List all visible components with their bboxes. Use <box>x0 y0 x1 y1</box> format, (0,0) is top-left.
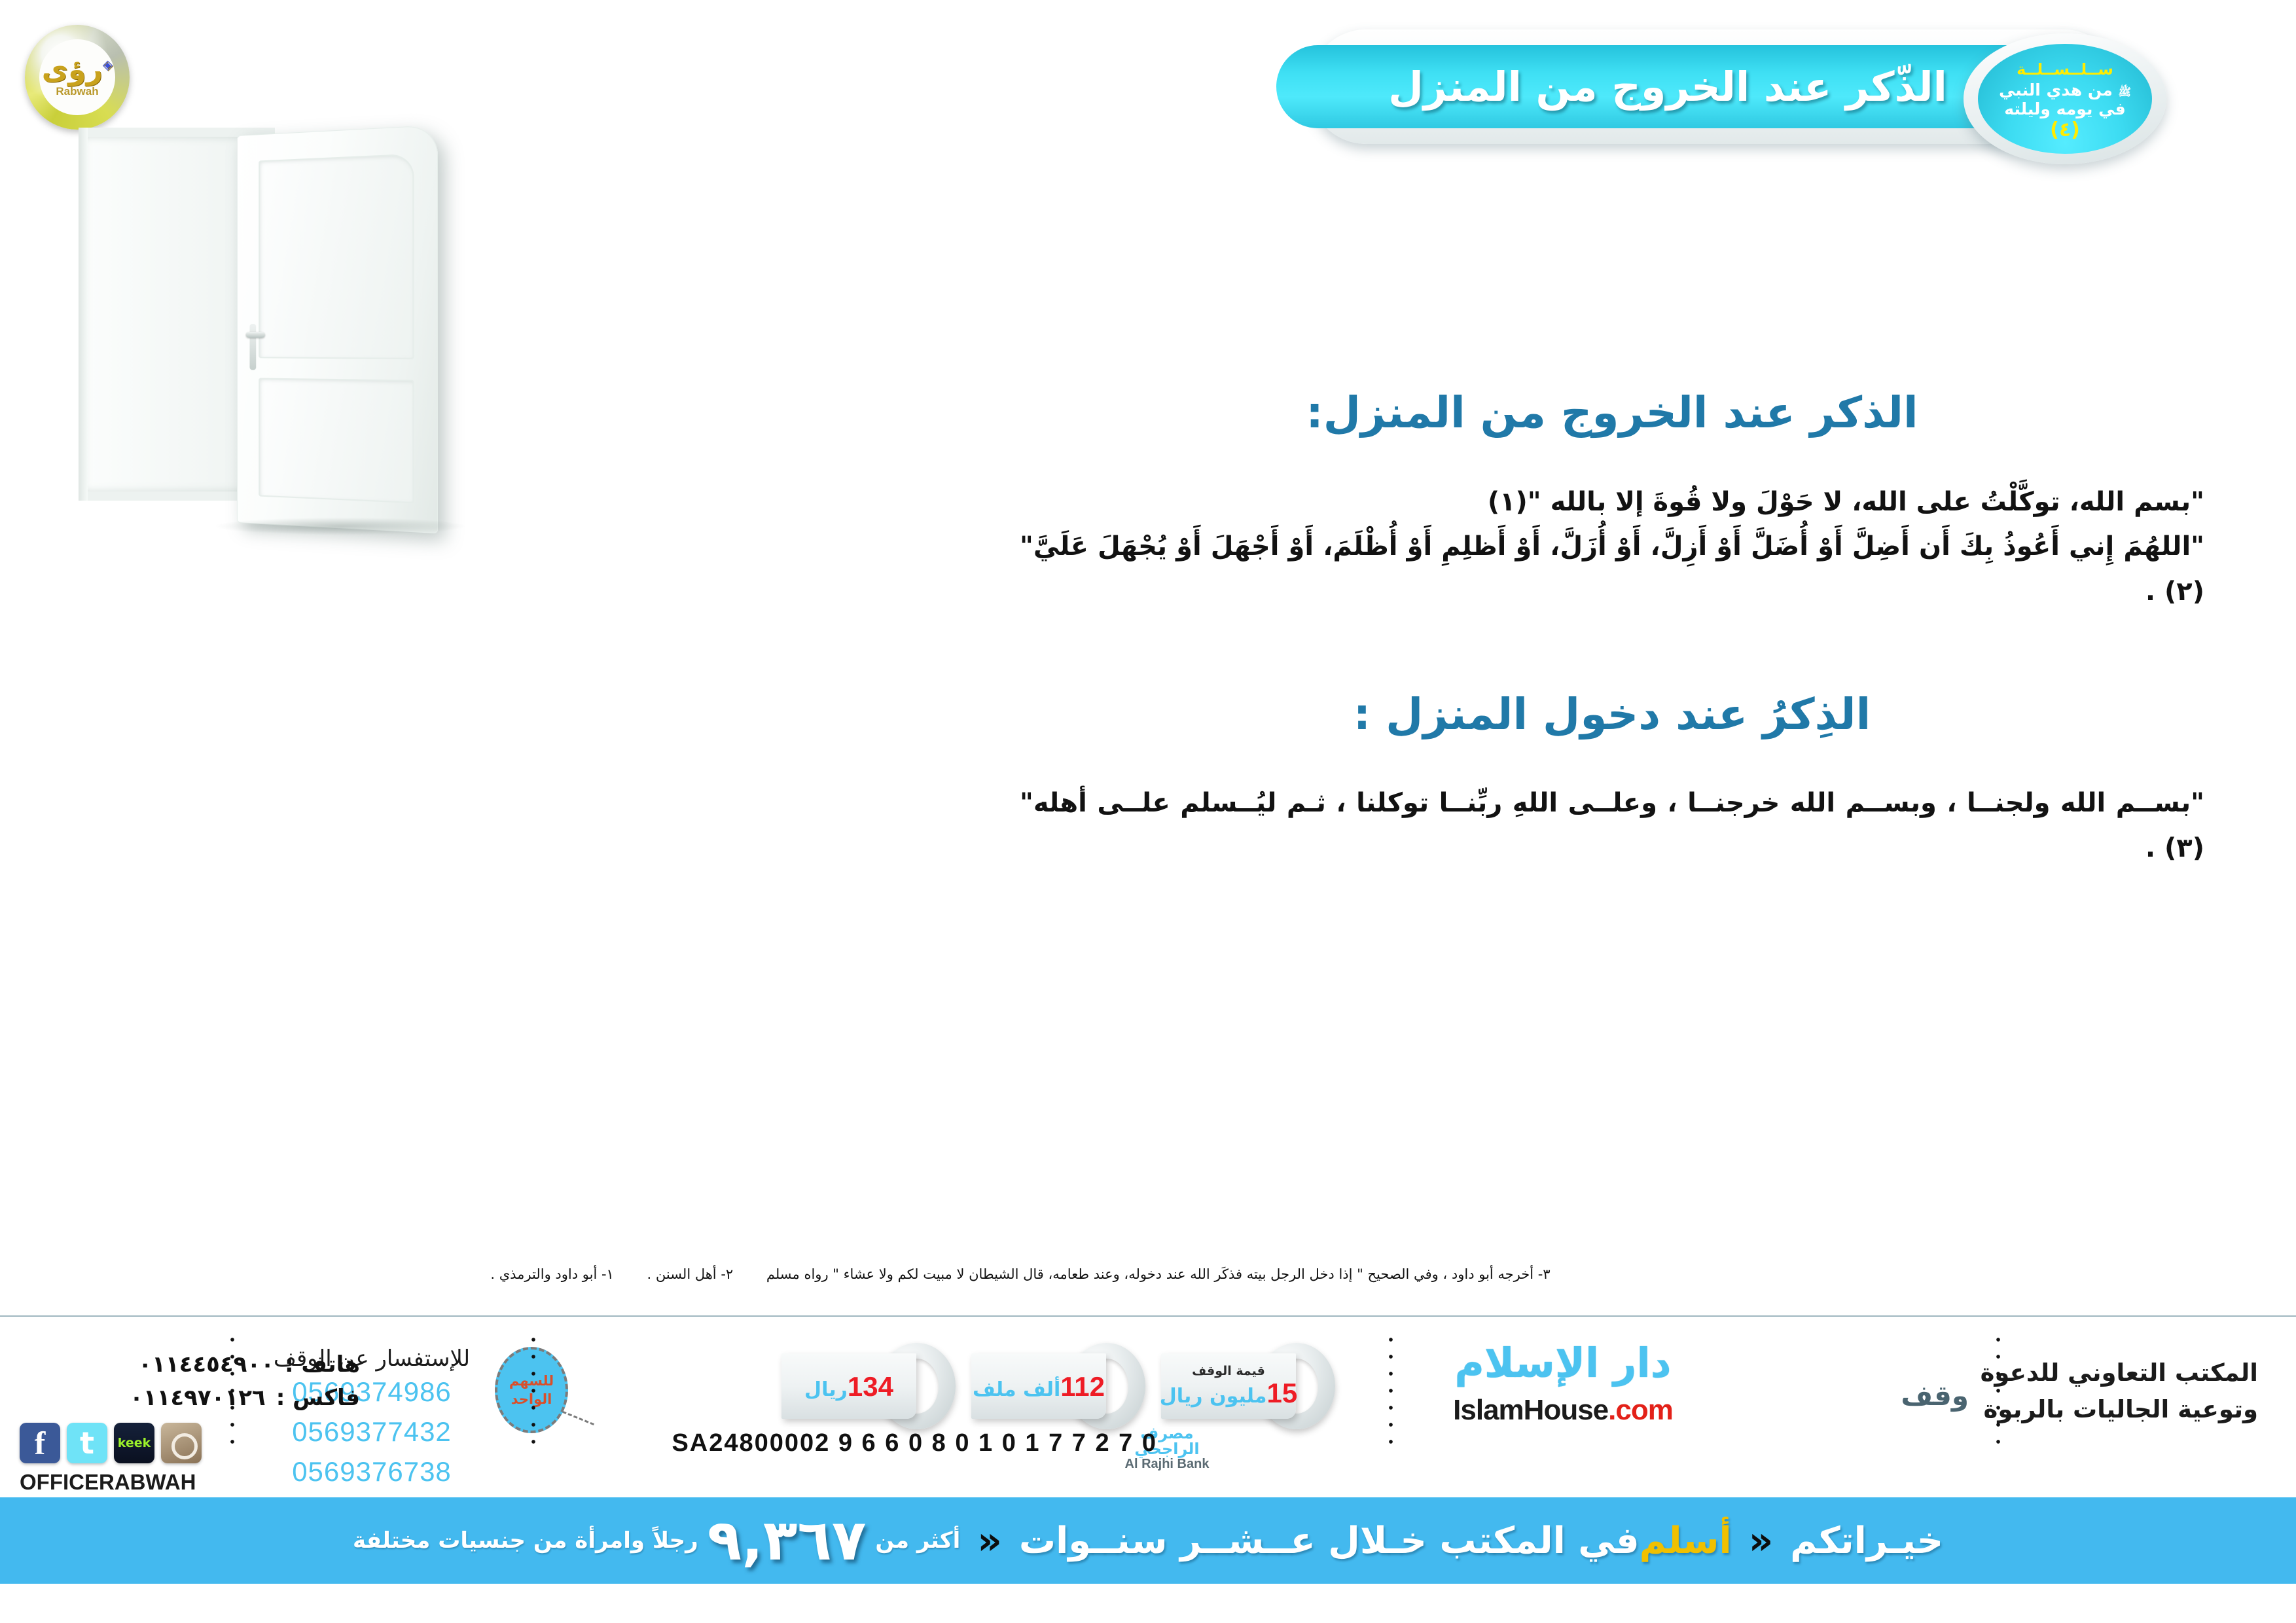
banner-part1: خيـراتكم <box>1790 1520 1943 1562</box>
header: الذّكر عند الخروج من المنزل ســلــســلــ… <box>1080 29 2166 170</box>
islamhouse-logo-arabic: دار الإسلام <box>1422 1343 1704 1383</box>
fax-label: فاكس : <box>276 1382 360 1415</box>
dua-enter: "بســم الله ولجنــا ، وبســم الله خرجنــ… <box>1020 781 2204 871</box>
series-badge-number: (٤) <box>2050 120 2080 140</box>
main-content: الذكر عند الخروج من المنزل: "بسم الله، ت… <box>1020 386 2204 871</box>
door-leaf <box>237 125 438 533</box>
diamond-icon: ◈ <box>103 56 113 72</box>
tag-label: 134ريال <box>781 1353 916 1419</box>
waqf-tag-files: 112ألف ملف <box>980 1347 1144 1425</box>
phone-row: هاتف : ٠١١٤٤٥٤٩٠٠ <box>20 1348 360 1382</box>
rabwah-logo: ◈رؤى Rabwah <box>25 25 130 130</box>
chevron-left-icon: « <box>1749 1518 1773 1563</box>
bottom-banner: خيـراتكم « أسلم في المكتب خـلال عــشــر … <box>0 1497 2296 1584</box>
dua-exit-line-2: "اللهُمَ إِني أَعُوذُ بِكَ أَن أَضِلَّ أ… <box>1020 524 2204 615</box>
chevron-left-icon-2: « <box>977 1518 1001 1563</box>
footnote-1: ١- أبو داود والترمذي . <box>490 1266 613 1282</box>
series-badge-line1: ســلــســلــة <box>2017 62 2113 77</box>
waqf-label: وقف <box>1901 1380 1969 1412</box>
tag-caption: قيمة الوقف <box>1192 1364 1265 1378</box>
door-handle-icon <box>246 332 265 338</box>
poster-root: ◈رؤى Rabwah الذّكر عند الخروج من المنزل … <box>0 0 2296 1623</box>
series-badge-line3: في يومه وليلته <box>2004 100 2125 119</box>
footnotes: ٣- أخرجه أبو داود ، وفي الصحيح " إذا دخل… <box>288 1266 1753 1282</box>
footer-dot-separator-2 <box>1389 1331 1393 1446</box>
footnote-2: ٢- أهل السنن . <box>647 1266 734 1282</box>
door-panel-bottom <box>259 378 414 503</box>
door-lock-plate <box>249 324 256 370</box>
tag-label: قيمة الوقف 15مليون ريال <box>1161 1353 1296 1419</box>
banner-tail: رجلاً وامرأة من جنسيات مختلفة <box>353 1527 698 1554</box>
tag-value: 134ريال <box>804 1372 893 1402</box>
contact-block: هاتف : ٠١١٤٤٥٤٩٠٠ فاكس : ٠١١٤٩٧٠١٢٦ OFFI… <box>20 1348 360 1495</box>
series-badge: ســلــســلــة ﷺ من هدي النبي في يومه ولي… <box>1964 33 2166 164</box>
tag-label: 112ألف ملف <box>971 1353 1106 1419</box>
banner-part2: في المكتب خـلال عــشــر سنــوات <box>1019 1520 1640 1562</box>
banner-highlight: أسلم <box>1640 1520 1732 1562</box>
fax-value: ٠١١٤٩٧٠١٢٦ <box>130 1382 266 1415</box>
header-pill: الذّكر عند الخروج من المنزل <box>1276 45 2059 128</box>
phone-value: ٠١١٤٤٥٤٩٠٠ <box>138 1348 274 1382</box>
tag-value: 112ألف ملف <box>973 1372 1105 1402</box>
series-badge-line2: ﷺ من هدي النبي <box>1999 81 2131 100</box>
waqf-tag-share: 134ريال <box>791 1347 954 1425</box>
islamhouse-logo-latin: IslamHouse.com <box>1422 1394 1704 1427</box>
sallallahu-icon: ﷺ <box>2119 86 2131 98</box>
organization-name: المكتب التعاوني للدعوة وتوعية الجاليات ب… <box>1981 1355 2258 1428</box>
footer: المكتب التعاوني للدعوة وتوعية الجاليات ب… <box>0 1317 2296 1462</box>
waqf-tag-value: قيمة الوقف 15مليون ريال <box>1170 1347 1334 1425</box>
instagram-icon[interactable] <box>161 1423 202 1463</box>
facebook-icon[interactable] <box>20 1423 60 1463</box>
phone-label: هاتف : <box>285 1348 360 1382</box>
keek-icon[interactable] <box>114 1423 154 1463</box>
social-icons <box>20 1423 360 1463</box>
twitter-icon[interactable] <box>67 1423 107 1463</box>
section-heading-exit: الذكر عند الخروج من المنزل: <box>1020 386 2204 440</box>
islamhouse-logo[interactable]: دار الإسلام IslamHouse.com <box>1422 1343 1704 1427</box>
section-heading-enter: الذِكرُ عند دخول المنزل : <box>1020 688 2204 742</box>
dua-exit: "بسم الله، توكَّلْتُ على الله، لا حَوْلَ… <box>1020 480 2204 615</box>
door-shadow <box>216 518 465 535</box>
open-door-illustration <box>72 121 458 527</box>
rabwah-logo-mark: ◈رؤى <box>42 56 113 84</box>
organization-name-line2: وتوعية الجاليات بالربوة <box>1981 1391 2258 1428</box>
tag-value: 15مليون ريال <box>1160 1378 1297 1408</box>
footer-dot-separator-1 <box>1996 1331 2000 1446</box>
dua-exit-line-1: "بسم الله، توكَّلْتُ على الله، لا حَوْلَ… <box>1020 480 2204 525</box>
al-rajhi-latin: Al Rajhi Bank <box>1118 1457 1216 1471</box>
fax-row: فاكس : ٠١١٤٩٧٠١٢٦ <box>20 1382 360 1415</box>
iban-number: SA24800002 9 6 6 0 8 0 1 0 1 7 7 2 7 0 <box>672 1429 1157 1457</box>
social-handle: OFFICERABWAH <box>20 1470 360 1495</box>
series-badge-core: ســلــســلــة ﷺ من هدي النبي في يومه ولي… <box>1978 44 2152 154</box>
footnote-3: ٣- أخرجه أبو داود ، وفي الصحيح " إذا دخل… <box>766 1266 1551 1282</box>
organization-name-line1: المكتب التعاوني للدعوة <box>1981 1355 2258 1391</box>
rabwah-logo-inner: ◈رؤى Rabwah <box>39 39 115 115</box>
page-title: الذّكر عند الخروج من المنزل <box>1276 45 2059 128</box>
rabwah-logo-name: Rabwah <box>56 85 98 98</box>
banner-count: ٩,٣٦٧ <box>708 1508 867 1573</box>
door-panel-top <box>259 154 414 359</box>
banner-more-than: أكثر من <box>875 1527 960 1554</box>
dua-enter-line-1: "بســم الله ولجنــا ، وبســم الله خرجنــ… <box>1020 781 2204 871</box>
footer-dot-separator-3 <box>531 1331 535 1446</box>
